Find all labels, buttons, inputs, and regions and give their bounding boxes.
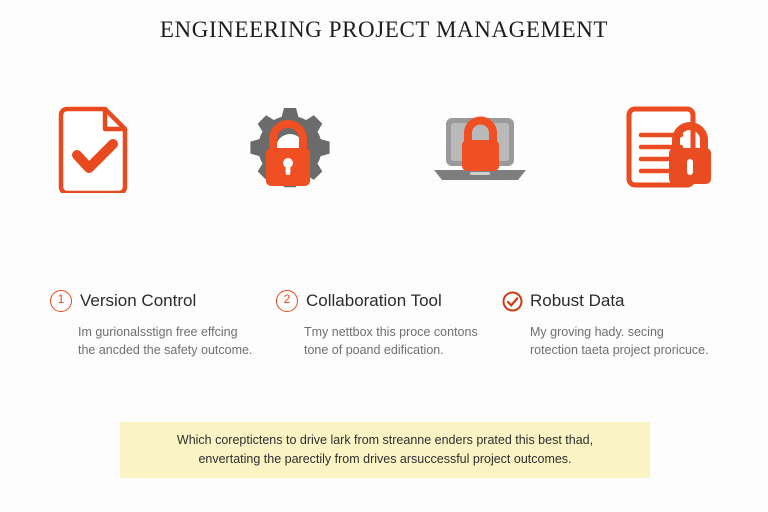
step-number-badge-1: 1: [50, 290, 72, 312]
icon-cell-4: [576, 100, 768, 200]
summary-banner-line-2: envertating the parectily from drives ar…: [198, 450, 571, 469]
feature-item-2: 2 Collaboration Tool Tmy nettbox this pr…: [276, 288, 502, 359]
feature-item-3: Robust Data My groving hady. secing rote…: [502, 288, 728, 359]
feature-item-1: 1 Version Control Im gurionalsstign free…: [50, 288, 276, 359]
feature-title-3: Robust Data: [530, 291, 625, 311]
feature-header-2: 2 Collaboration Tool: [276, 288, 502, 314]
summary-banner-line-1: Which coreptictens to drive lark from st…: [177, 431, 593, 450]
feature-title-2: Collaboration Tool: [306, 291, 442, 311]
feature-body-2: Tmy nettbox this proce contons tone of p…: [304, 323, 484, 359]
document-check-icon: [57, 103, 135, 198]
feature-list: 1 Version Control Im gurionalsstign free…: [50, 288, 730, 359]
icon-cell-3: [384, 100, 576, 200]
feature-header-1: 1 Version Control: [50, 288, 276, 314]
document-lock-icon: [621, 105, 723, 196]
gear-lock-icon: [238, 102, 338, 199]
feature-body-3: My groving hady. secing rotection taeta …: [530, 323, 710, 359]
feature-title-1: Version Control: [80, 291, 196, 311]
check-circle-icon: [502, 291, 522, 311]
step-number-badge-2: 2: [276, 290, 298, 312]
icon-row: [0, 100, 768, 200]
summary-banner: Which coreptictens to drive lark from st…: [120, 422, 650, 478]
laptop-lock-icon: [428, 106, 532, 195]
icon-cell-1: [0, 100, 192, 200]
feature-header-3: Robust Data: [502, 288, 728, 314]
page-title: ENGINEERING PROJECT MANAGEMENT: [0, 17, 768, 43]
icon-cell-2: [192, 100, 384, 200]
feature-body-1: Im gurionalsstign free effcing the ancde…: [78, 323, 258, 359]
